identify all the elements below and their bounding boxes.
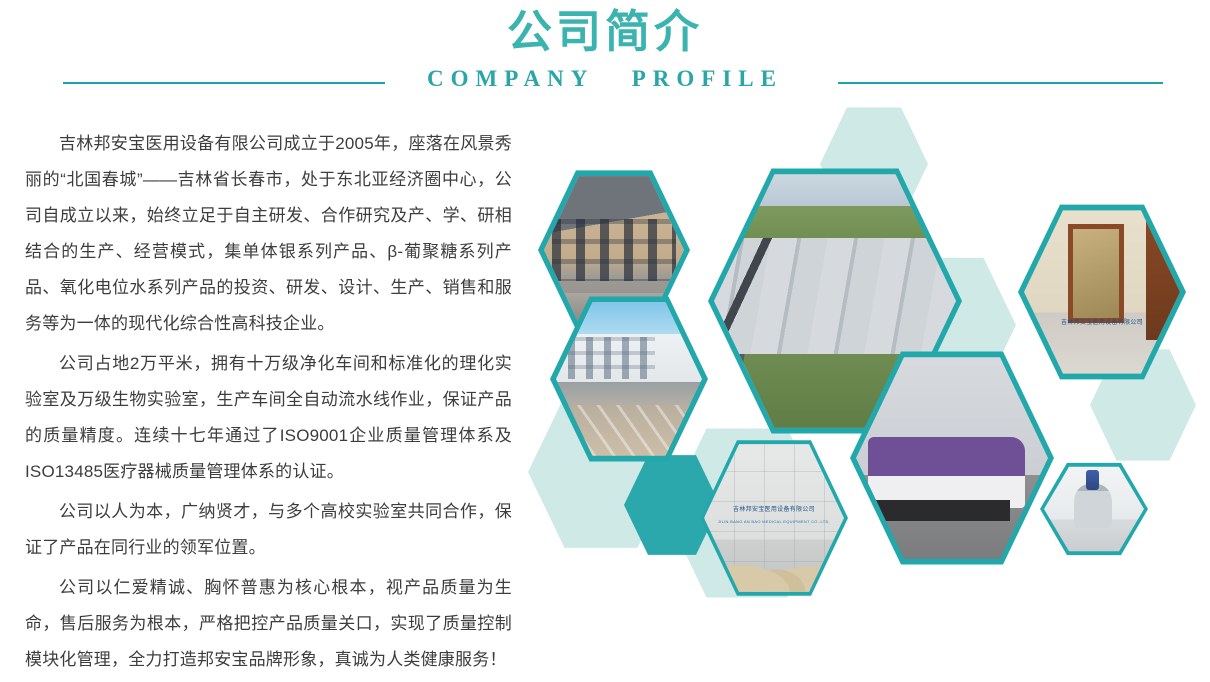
page-header: 公司简介 COMPANY PROFILE	[0, 0, 1210, 105]
divider-line-right	[838, 82, 1163, 84]
profile-paragraph: 公司占地2万平米，拥有十万级净化车间和标准化的理化实验室及万级生物实验室，生产车…	[25, 346, 512, 490]
lobby-sign-text: 吉林邦安宝医用设备有限公司	[1024, 319, 1180, 327]
profile-paragraph: 吉林邦安宝医用设备有限公司成立于2005年，座落在风景秀丽的“北国春城”——吉林…	[25, 126, 512, 342]
truck-brand-text: ZTO	[948, 452, 978, 467]
photo-production-equipment	[1040, 461, 1148, 557]
divider-line-left	[63, 82, 385, 84]
showroom-sign-cn: 吉林邦安宝医用设备有限公司	[704, 506, 844, 514]
profile-paragraph: 公司以人为本，广纳贤才，与多个高校实验室共同合作，保证了产品在同行业的领军位置。	[25, 494, 512, 566]
page-title: 公司简介	[0, 4, 1210, 60]
photo-collage: 吉林邦安宝医用设备有限公司 ZTO 吉林邦安宝医用设备有限公司 JILIN BA…	[520, 95, 1210, 650]
company-profile-text: 吉林邦安宝医用设备有限公司成立于2005年，座落在风景秀丽的“北国春城”——吉林…	[25, 126, 512, 682]
showroom-sign-en: JILIN BANG AN BAO MEDICAL EQUIPMENT CO.,…	[704, 518, 844, 526]
profile-paragraph: 公司以仁爱精诚、胸怀普惠为核心根本，视产品质量为生命，售后服务为根本，严格把控产…	[25, 570, 512, 678]
page-subtitle: COMPANY PROFILE	[0, 64, 1210, 94]
